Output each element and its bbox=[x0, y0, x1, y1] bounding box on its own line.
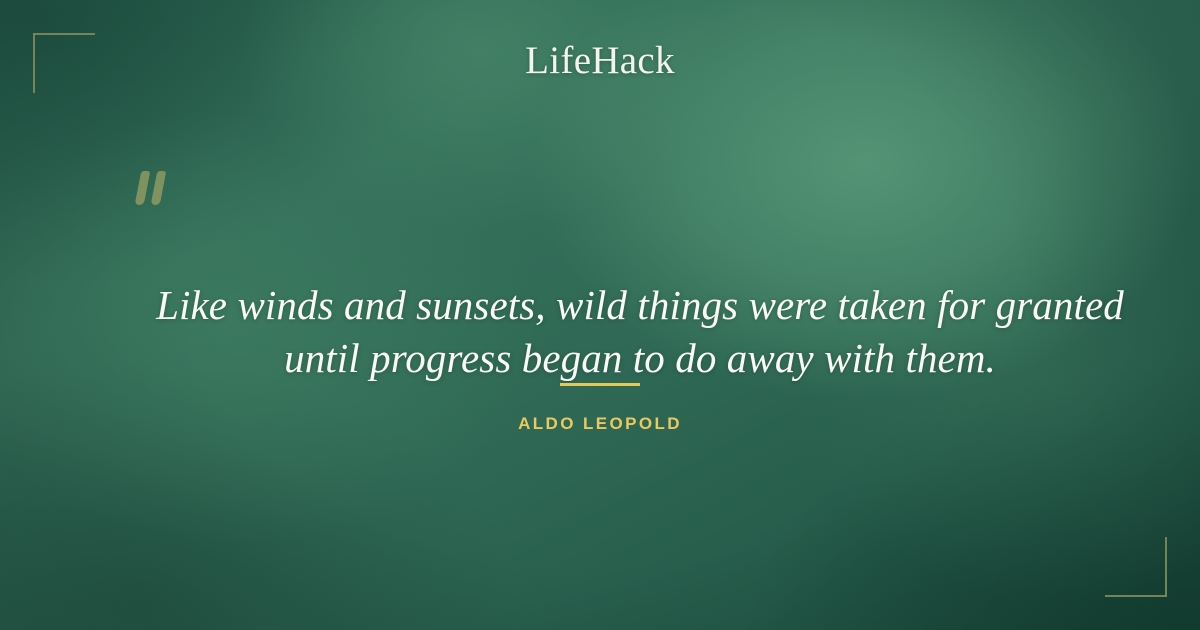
bracket-vertical-rule bbox=[1165, 537, 1167, 597]
lifehack-logo: LifeHack bbox=[0, 38, 1200, 84]
gold-divider bbox=[560, 383, 640, 386]
bracket-horizontal-rule bbox=[33, 33, 95, 35]
quote-stroke-left bbox=[135, 171, 151, 205]
quotation-mark-icon bbox=[133, 163, 193, 223]
quote-line: until progress began to do away with the… bbox=[100, 332, 1180, 385]
quote-text: Like winds and sunsets, wild things were… bbox=[100, 279, 1180, 385]
quote-line: Like winds and sunsets, wild things were… bbox=[100, 279, 1180, 332]
corner-bracket-bottom-right bbox=[1105, 537, 1167, 597]
quote-card: LifeHack Like winds and sunsets, wild th… bbox=[0, 0, 1200, 630]
divider-container bbox=[0, 383, 1200, 386]
quote-stroke-right bbox=[151, 171, 167, 205]
bracket-horizontal-rule bbox=[1105, 595, 1167, 597]
author-attribution: ALDO LEOPOLD bbox=[0, 414, 1200, 434]
